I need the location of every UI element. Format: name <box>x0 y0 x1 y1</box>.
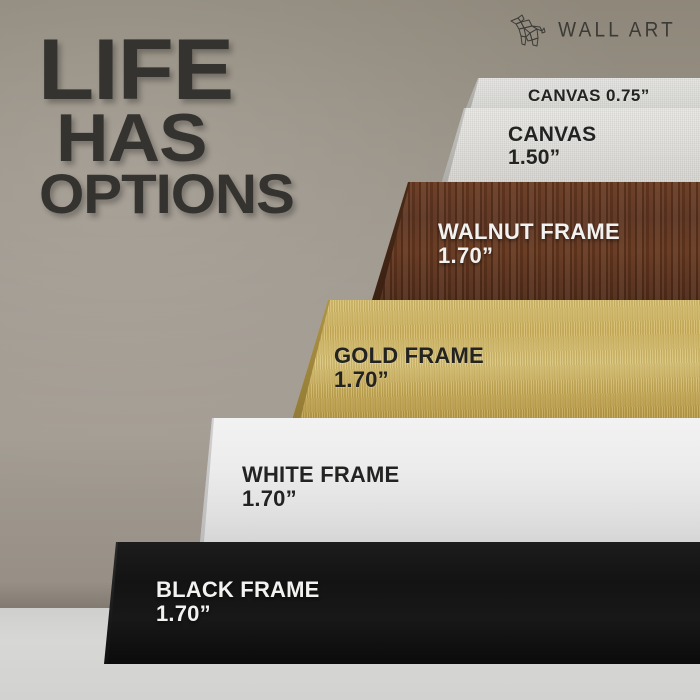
option-slab-black-frame[interactable]: BLACK FRAME 1.70” <box>104 542 700 664</box>
option-label-walnut-frame: WALNUT FRAME 1.70” <box>438 220 620 268</box>
option-slab-gold-frame[interactable]: GOLD FRAME 1.70” <box>292 300 700 420</box>
option-label-black-frame: BLACK FRAME 1.70” <box>156 578 320 626</box>
brand-logo[interactable]: WALL ART <box>508 14 676 48</box>
option-slab-white-frame[interactable]: WHITE FRAME 1.70” <box>200 418 700 542</box>
page-title: LIFE HAS OPTIONS <box>38 36 284 217</box>
brand-name: WALL ART <box>558 19 676 44</box>
origami-goat-icon <box>508 14 548 48</box>
option-label-canvas-150: CANVAS 1.50” <box>508 124 596 169</box>
option-label-canvas-075: CANVAS 0.75” <box>528 87 650 105</box>
option-label-white-frame: WHITE FRAME 1.70” <box>242 463 399 511</box>
headline-line-2: HAS <box>56 111 300 165</box>
headline-line-1: LIFE <box>38 36 301 105</box>
option-slab-canvas-150[interactable]: CANVAS 1.50” <box>440 108 700 188</box>
headline-line-3: OPTIONS <box>39 172 294 217</box>
option-label-gold-frame: GOLD FRAME 1.70” <box>334 344 484 392</box>
option-slab-walnut-frame[interactable]: WALNUT FRAME 1.70” <box>372 182 700 300</box>
